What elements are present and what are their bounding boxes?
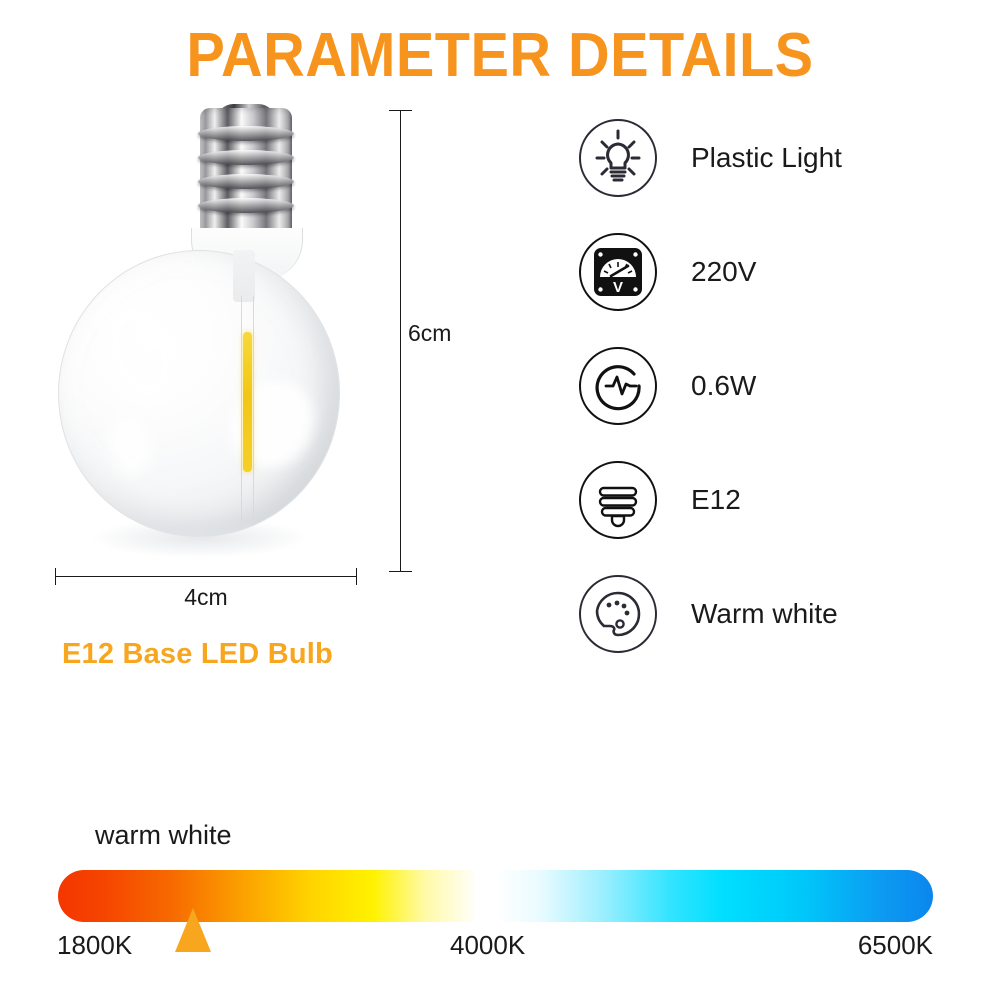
bulb-stem	[233, 250, 255, 302]
tick-label-6500k: 6500K	[858, 930, 933, 961]
spec-label-power: 0.6W	[691, 370, 756, 402]
spec-row-voltage: V 220V	[578, 232, 756, 312]
color-palette-icon	[578, 574, 658, 654]
screw-base-icon	[578, 460, 658, 540]
height-dimension-label: 6cm	[408, 320, 451, 347]
color-temperature-tick-labels: 1800K 4000K 6500K	[58, 930, 933, 964]
spec-label-base: E12	[691, 484, 741, 516]
base-thread-ridge	[198, 150, 294, 165]
product-image	[50, 100, 370, 600]
bulb-shadow	[90, 518, 310, 558]
voltmeter-icon: V	[578, 232, 658, 312]
spec-row-color: Warm white	[578, 574, 838, 654]
width-dimension-label: 4cm	[55, 584, 357, 611]
led-bulb-illustration	[50, 100, 370, 600]
led-filament	[243, 332, 252, 472]
tick-label-1800k: 1800K	[57, 930, 132, 961]
power-pulse-icon	[578, 346, 658, 426]
color-temperature-note: warm white	[95, 820, 232, 851]
tick-label-4000k: 4000K	[450, 930, 525, 961]
svg-text:V: V	[613, 279, 623, 296]
width-dimension-line	[55, 576, 357, 577]
filament-wire	[253, 296, 254, 526]
base-thread-ridge	[198, 198, 294, 213]
filament-wire	[241, 296, 242, 526]
base-thread-ridge	[198, 126, 294, 141]
spec-label-material: Plastic Light	[691, 142, 842, 174]
spec-label-color: Warm white	[691, 598, 838, 630]
spec-row-power: 0.6W	[578, 346, 756, 426]
base-thread-ridge	[198, 174, 294, 189]
product-caption: E12 Base LED Bulb	[62, 638, 333, 671]
spec-row-material: Plastic Light	[578, 118, 842, 198]
page-title: PARAMETER DETAILS	[35, 20, 965, 91]
lightbulb-rays-icon	[578, 118, 658, 198]
height-dimension-line	[400, 110, 401, 572]
spec-label-voltage: 220V	[691, 256, 756, 288]
spec-row-base: E12	[578, 460, 741, 540]
